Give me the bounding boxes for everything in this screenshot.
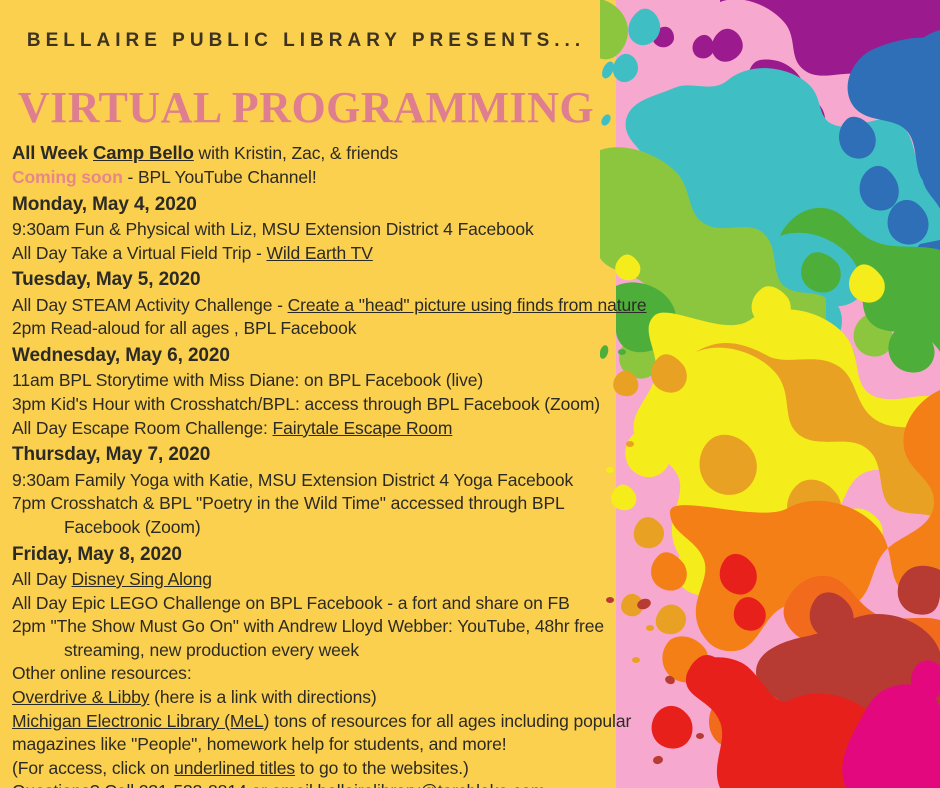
- day-heading: Tuesday, May 5, 2020: [12, 265, 612, 294]
- poster: BELLAIRE PUBLIC LIBRARY PRESENTS... VIRT…: [0, 0, 940, 788]
- event-text: Facebook (Zoom): [64, 517, 201, 537]
- event-line: All Day STEAM Activity Challenge - Creat…: [12, 294, 612, 318]
- event-text: All Day Take a Virtual Field Trip -: [12, 243, 266, 263]
- coming-soon-line: Coming soon - BPL YouTube Channel!: [12, 166, 612, 190]
- event-text: to go to the websites.): [295, 758, 469, 778]
- resource-line: Michigan Electronic Library (MeL) tons o…: [12, 710, 612, 734]
- event-link[interactable]: underlined titles: [174, 758, 295, 778]
- event-line: 11am BPL Storytime with Miss Diane: on B…: [12, 369, 612, 393]
- all-week-suffix: with Kristin, Zac, & friends: [194, 143, 398, 163]
- coming-soon-label: Coming soon: [12, 167, 123, 187]
- event-line: 3pm Kid's Hour with Crosshatch/BPL: acce…: [12, 393, 612, 417]
- all-week-prefix: All Week: [12, 142, 93, 163]
- event-line: 7pm Crosshatch & BPL "Poetry in the Wild…: [12, 492, 612, 516]
- day-heading: Friday, May 8, 2020: [12, 540, 612, 569]
- event-link[interactable]: Disney Sing Along: [72, 569, 212, 589]
- event-text: 9:30am Fun & Physical with Liz, MSU Exte…: [12, 219, 534, 239]
- day-heading: Thursday, May 7, 2020: [12, 440, 612, 469]
- event-line: 9:30am Fun & Physical with Liz, MSU Exte…: [12, 218, 612, 242]
- event-text: 2pm "The Show Must Go On" with Andrew Ll…: [12, 616, 604, 636]
- kicker-text: BELLAIRE PUBLIC LIBRARY PRESENTS...: [0, 30, 612, 52]
- event-line: All Day Take a Virtual Field Trip - Wild…: [12, 242, 612, 266]
- resource-line: Overdrive & Libby (here is a link with d…: [12, 686, 612, 710]
- event-text: All Day Escape Room Challenge:: [12, 418, 273, 438]
- event-link[interactable]: Fairytale Escape Room: [273, 418, 453, 438]
- schedule-list: All Week Camp Bello with Kristin, Zac, &…: [12, 140, 612, 788]
- event-text: 3pm Kid's Hour with Crosshatch/BPL: acce…: [12, 394, 600, 414]
- event-line: 9:30am Family Yoga with Katie, MSU Exten…: [12, 469, 612, 493]
- event-text: 11am BPL Storytime with Miss Diane: on B…: [12, 370, 483, 390]
- event-link[interactable]: Create a "head" picture using finds from…: [288, 295, 647, 315]
- event-text: 2pm Read-aloud for all ages , BPL Facebo…: [12, 318, 356, 338]
- resources-heading: Other online resources:: [12, 662, 612, 686]
- event-line: All Day Epic LEGO Challenge on BPL Faceb…: [12, 592, 612, 616]
- contact-line: Questions? Call 231-533-8814 or email be…: [12, 780, 612, 788]
- event-line: All Day Escape Room Challenge: Fairytale…: [12, 417, 612, 441]
- event-text: (here is a link with directions): [149, 687, 376, 707]
- event-line: Facebook (Zoom): [12, 516, 612, 540]
- event-text: ) tons of resources for all ages includi…: [264, 711, 632, 731]
- event-link[interactable]: Wild Earth TV: [266, 243, 372, 263]
- event-link[interactable]: Overdrive & Libby: [12, 687, 149, 707]
- resource-line: (For access, click on underlined titles …: [12, 757, 612, 781]
- all-week-line: All Week Camp Bello with Kristin, Zac, &…: [12, 140, 612, 166]
- event-line: streaming, new production every week: [12, 639, 612, 663]
- event-text: streaming, new production every week: [64, 640, 359, 660]
- coming-soon-rest: - BPL YouTube Channel!: [123, 167, 317, 187]
- event-text: All Day Epic LEGO Challenge on BPL Faceb…: [12, 593, 570, 613]
- page-title: VIRTUAL PROGRAMMING: [0, 82, 612, 133]
- event-line: All Day Disney Sing Along: [12, 568, 612, 592]
- camp-bello-link[interactable]: Camp Bello: [93, 142, 194, 163]
- event-text: (For access, click on: [12, 758, 174, 778]
- day-heading: Wednesday, May 6, 2020: [12, 341, 612, 370]
- event-text: magazines like "People", homework help f…: [12, 734, 507, 754]
- event-text: 9:30am Family Yoga with Katie, MSU Exten…: [12, 470, 573, 490]
- event-link[interactable]: Michigan Electronic Library (MeL: [12, 711, 264, 731]
- event-line: 2pm Read-aloud for all ages , BPL Facebo…: [12, 317, 612, 341]
- poster-text-column: BELLAIRE PUBLIC LIBRARY PRESENTS... VIRT…: [0, 0, 612, 788]
- day-heading: Monday, May 4, 2020: [12, 190, 612, 219]
- resource-line: magazines like "People", homework help f…: [12, 733, 612, 757]
- paint-splatter-artwork: [600, 0, 940, 788]
- event-text: 7pm Crosshatch & BPL "Poetry in the Wild…: [12, 493, 565, 513]
- event-line: 2pm "The Show Must Go On" with Andrew Ll…: [12, 615, 612, 639]
- event-text: All Day: [12, 569, 72, 589]
- event-text: All Day STEAM Activity Challenge -: [12, 295, 288, 315]
